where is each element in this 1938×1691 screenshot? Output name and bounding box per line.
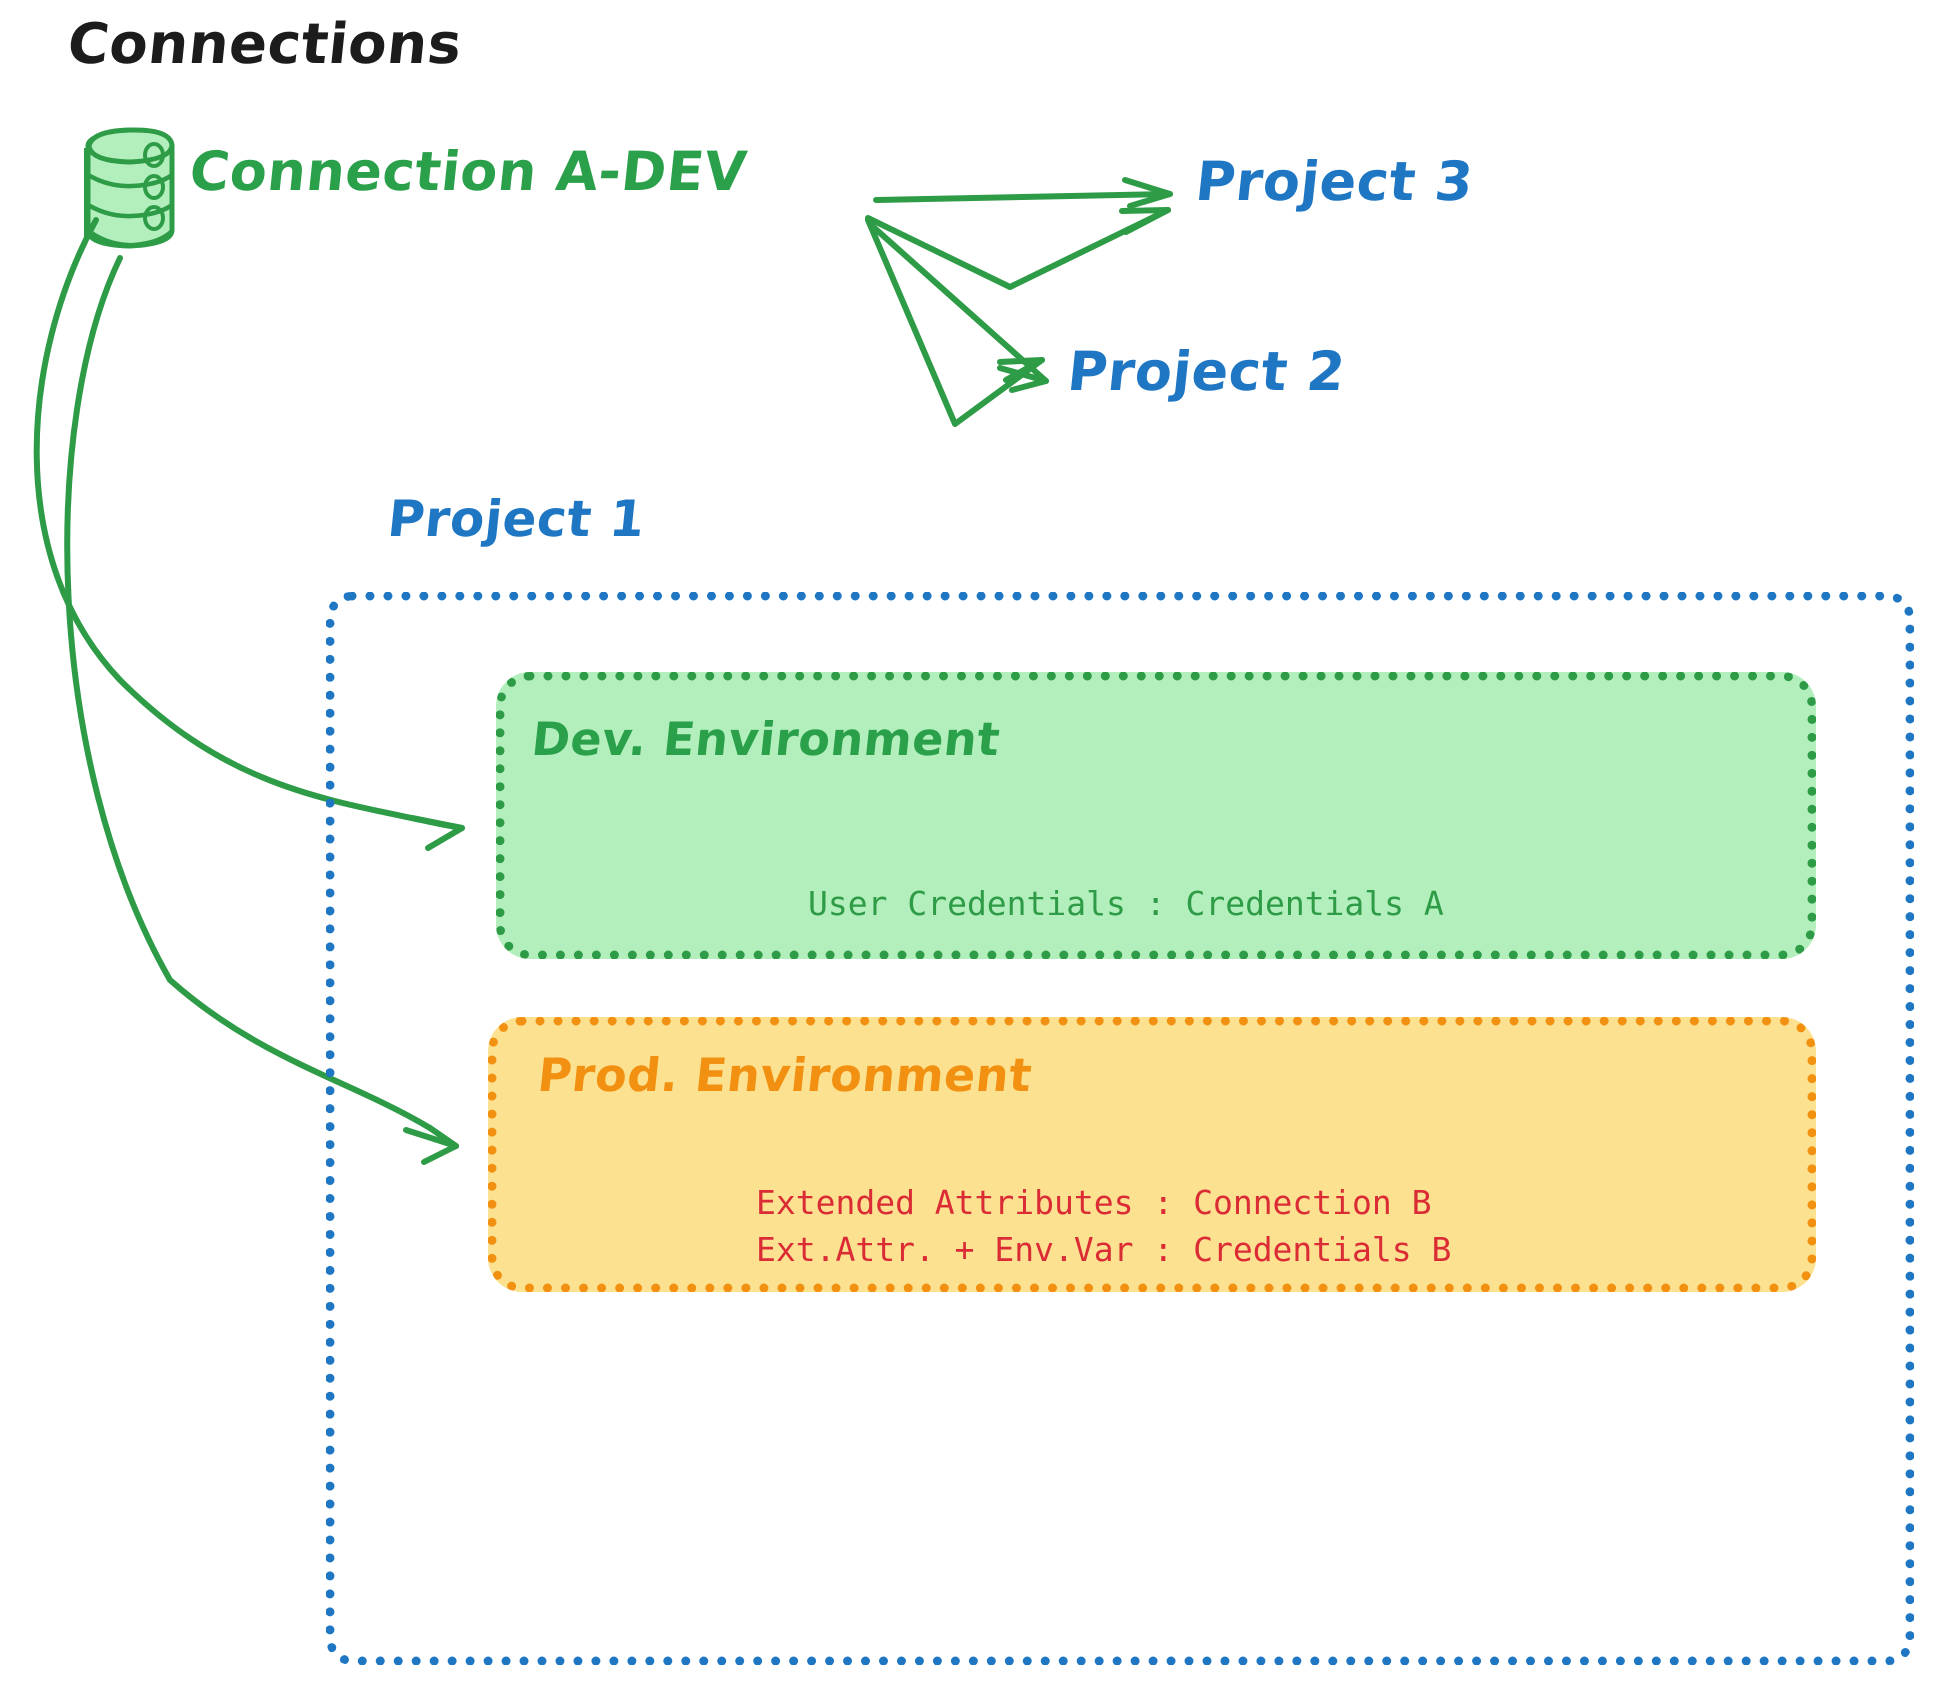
project-2-label: Project 2 [1065, 340, 1349, 403]
dev-environment-attribute-line: User Credentials : Credentials A [808, 884, 1444, 923]
dev-environment-title: Dev. Environment [529, 712, 1003, 766]
prod-environment-attribute-line-2: Ext.Attr. + Env.Var : Credentials B [756, 1227, 1451, 1274]
diagram-canvas: Connections Connection A-DEV Project 3 P… [0, 0, 1938, 1691]
prod-environment-attribute-lines: Extended Attributes : Connection B Ext.A… [756, 1180, 1451, 1274]
page-title: Connections [65, 12, 465, 77]
connection-label: Connection A-DEV [187, 140, 750, 203]
prod-environment-attribute-line-1: Extended Attributes : Connection B [756, 1180, 1451, 1227]
project-3-label: Project 3 [1193, 150, 1477, 213]
prod-environment-title: Prod. Environment [535, 1048, 1034, 1102]
project-1-label: Project 1 [385, 490, 648, 548]
database-cylinder-icon [86, 130, 172, 246]
